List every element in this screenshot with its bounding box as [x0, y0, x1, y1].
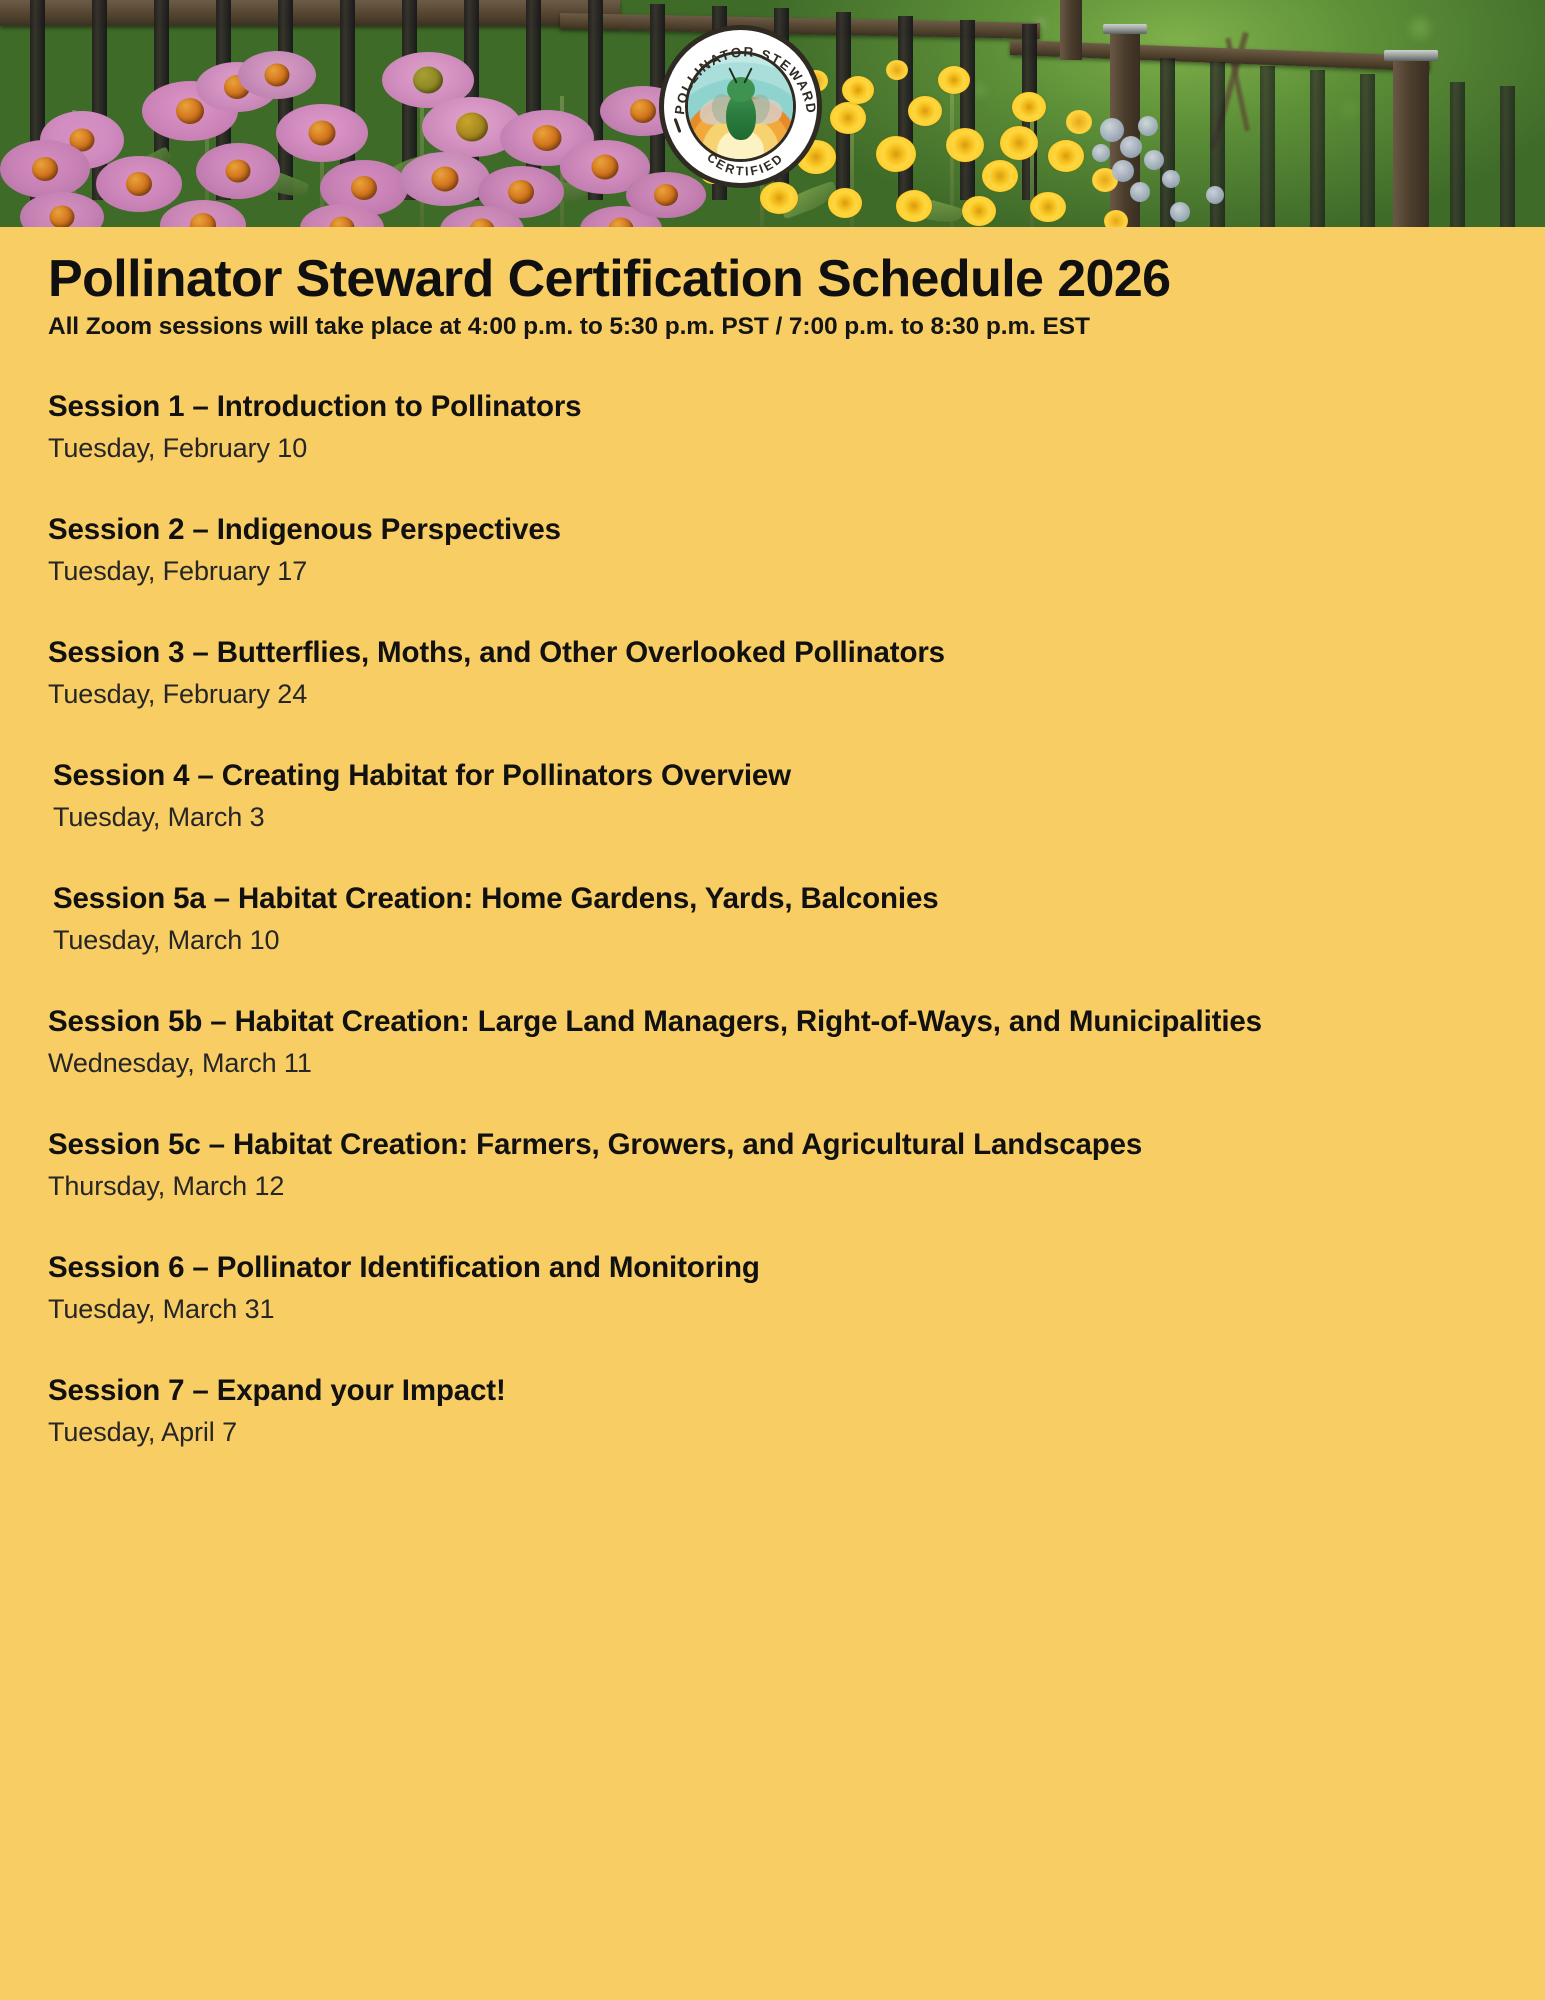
- session-title: Session 4 – Creating Habitat for Pollina…: [53, 754, 1485, 798]
- yellow-flower: [896, 190, 932, 222]
- blue-flower: [1144, 150, 1164, 170]
- session-title: Session 3 – Butterflies, Moths, and Othe…: [48, 631, 1485, 675]
- session-date: Tuesday, February 24: [48, 678, 1485, 712]
- yellow-flower: [1048, 140, 1084, 172]
- yellow-flower: [938, 66, 970, 94]
- session-date: Tuesday, February 10: [48, 432, 1485, 466]
- blue-flower: [1138, 116, 1158, 136]
- yellow-flower: [828, 188, 862, 218]
- yellow-flower: [946, 128, 984, 162]
- session-item: Session 5b – Habitat Creation: Large Lan…: [0, 1000, 1545, 1081]
- blue-flower: [1100, 118, 1124, 142]
- yellow-flower: [908, 96, 942, 126]
- session-date: Tuesday, April 7: [48, 1416, 1485, 1450]
- session-date: Wednesday, March 11: [48, 1047, 1485, 1081]
- blue-flower: [1162, 170, 1180, 188]
- blue-flower: [1112, 160, 1134, 182]
- yellow-flower: [962, 196, 996, 226]
- coneflower: [160, 196, 246, 227]
- coneflower: [238, 48, 316, 102]
- session-item: Session 5a – Habitat Creation: Home Gard…: [0, 877, 1545, 958]
- pollinator-steward-certified-badge: POLLINATOR STEWARD CERTIFIED: [659, 25, 822, 188]
- session-title: Session 1 – Introduction to Pollinators: [48, 385, 1485, 429]
- session-date: Tuesday, March 31: [48, 1293, 1485, 1327]
- session-title: Session 2 – Indigenous Perspectives: [48, 508, 1485, 552]
- badge-ring-text: POLLINATOR STEWARD CERTIFIED: [664, 30, 827, 193]
- session-date: Tuesday, March 10: [53, 924, 1485, 958]
- session-title: Session 7 – Expand your Impact!: [48, 1369, 1485, 1413]
- session-item: Session 2 – Indigenous PerspectivesTuesd…: [0, 508, 1545, 589]
- coneflower: [440, 202, 524, 227]
- session-item: Session 7 – Expand your Impact!Tuesday, …: [0, 1369, 1545, 1450]
- railing-baluster: [1500, 86, 1515, 227]
- yellow-flower: [1030, 192, 1066, 222]
- session-title: Session 5a – Habitat Creation: Home Gard…: [53, 877, 1485, 921]
- session-item: Session 5c – Habitat Creation: Farmers, …: [0, 1123, 1545, 1204]
- session-date: Tuesday, March 3: [53, 801, 1485, 835]
- railing-baluster: [1310, 70, 1325, 227]
- blue-flower: [1130, 182, 1150, 202]
- blue-flower: [1120, 136, 1142, 158]
- session-item: Session 6 – Pollinator Identification an…: [0, 1246, 1545, 1327]
- yellow-flower: [876, 136, 916, 172]
- badge-bottom-text: CERTIFIED: [704, 150, 787, 178]
- railing-post-cap: [1384, 50, 1438, 61]
- schedule-content: Pollinator Steward Certification Schedul…: [0, 227, 1545, 1492]
- yellow-flower-small: [1066, 110, 1092, 134]
- session-date: Thursday, March 12: [48, 1170, 1485, 1204]
- session-title: Session 5c – Habitat Creation: Farmers, …: [48, 1123, 1485, 1167]
- session-date: Tuesday, February 17: [48, 555, 1485, 589]
- yellow-flower: [842, 76, 874, 104]
- railing-baluster: [1360, 74, 1375, 227]
- page-subtitle: All Zoom sessions will take place at 4:0…: [0, 307, 1545, 341]
- coneflower: [20, 188, 104, 227]
- session-item: Session 3 – Butterflies, Moths, and Othe…: [0, 631, 1545, 712]
- coneflower: [196, 140, 280, 202]
- railing-post: [1393, 58, 1429, 227]
- blue-flower: [1092, 144, 1110, 162]
- yellow-flower: [830, 102, 866, 134]
- yellow-flower-small: [1104, 210, 1128, 227]
- railing-baluster: [1260, 66, 1275, 227]
- session-title: Session 5b – Habitat Creation: Large Lan…: [48, 1000, 1485, 1044]
- coneflower: [300, 200, 384, 227]
- session-list: Session 1 – Introduction to PollinatorsT…: [0, 341, 1545, 1450]
- coneflower: [400, 148, 490, 210]
- session-title: Session 6 – Pollinator Identification an…: [48, 1246, 1485, 1290]
- header-photo-banner: POLLINATOR STEWARD CERTIFIED: [0, 0, 1545, 227]
- blue-flower: [1206, 186, 1224, 204]
- blue-flower: [1170, 202, 1190, 222]
- yellow-flower-small: [886, 60, 908, 80]
- badge-top-text: POLLINATOR STEWARD: [672, 44, 819, 115]
- session-item: Session 1 – Introduction to PollinatorsT…: [0, 385, 1545, 466]
- railing-post-cap: [1103, 24, 1147, 34]
- page-title: Pollinator Steward Certification Schedul…: [0, 227, 1545, 307]
- yellow-flower: [1012, 92, 1046, 122]
- coneflower-cluster: [0, 40, 700, 227]
- yellow-flower: [1000, 126, 1038, 160]
- session-item: Session 4 – Creating Habitat for Pollina…: [0, 754, 1545, 835]
- yellow-flower: [982, 160, 1018, 192]
- railing-baluster: [1450, 82, 1465, 227]
- schedule-flyer: POLLINATOR STEWARD CERTIFIED Pollinator …: [0, 0, 1545, 2000]
